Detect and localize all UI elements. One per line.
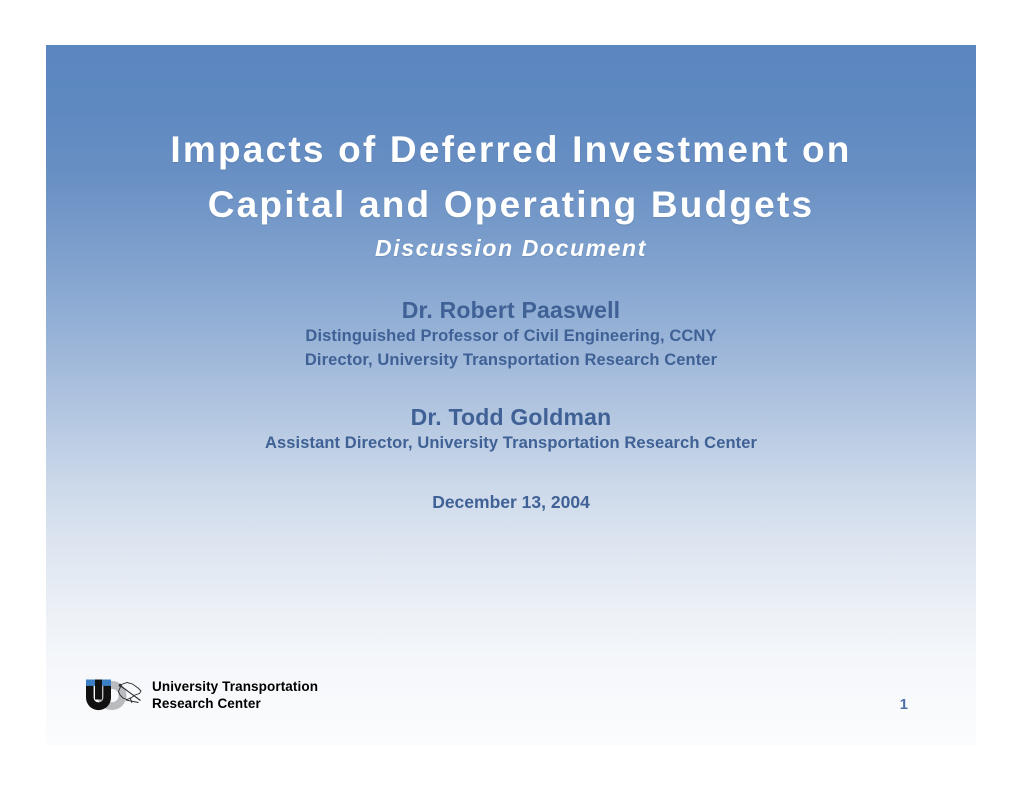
slide-title-line-2: Capital and Operating Budgets bbox=[208, 184, 815, 225]
utrc-logo-icon bbox=[82, 675, 144, 717]
author-entry: Dr. Robert Paaswell Distinguished Profes… bbox=[46, 295, 976, 373]
presentation-slide: Impacts of Deferred Investment on Capita… bbox=[46, 45, 976, 745]
footer-logo: University Transportation Research Cente… bbox=[82, 675, 318, 717]
author-name: Dr. Robert Paaswell bbox=[46, 295, 976, 325]
author-role-line: Director, University Transportation Rese… bbox=[46, 349, 976, 373]
footer-logo-text: University Transportation Research Cente… bbox=[152, 679, 318, 712]
slide-title-line-1: Impacts of Deferred Investment on bbox=[170, 129, 851, 170]
page-number: 1 bbox=[900, 696, 908, 713]
author-role-line: Assistant Director, University Transport… bbox=[46, 432, 976, 456]
title-block: Impacts of Deferred Investment on Capita… bbox=[46, 123, 976, 262]
slide-subtitle: Discussion Document bbox=[46, 235, 976, 262]
slide-title: Impacts of Deferred Investment on Capita… bbox=[46, 123, 976, 233]
author-role-line: Distinguished Professor of Civil Enginee… bbox=[46, 325, 976, 349]
author-name: Dr. Todd Goldman bbox=[46, 402, 976, 432]
presentation-date: December 13, 2004 bbox=[46, 491, 976, 514]
author-entry: Dr. Todd Goldman Assistant Director, Uni… bbox=[46, 402, 976, 456]
authors-block: Dr. Robert Paaswell Distinguished Profes… bbox=[46, 295, 976, 514]
slide-canvas: Impacts of Deferred Investment on Capita… bbox=[0, 0, 1024, 791]
